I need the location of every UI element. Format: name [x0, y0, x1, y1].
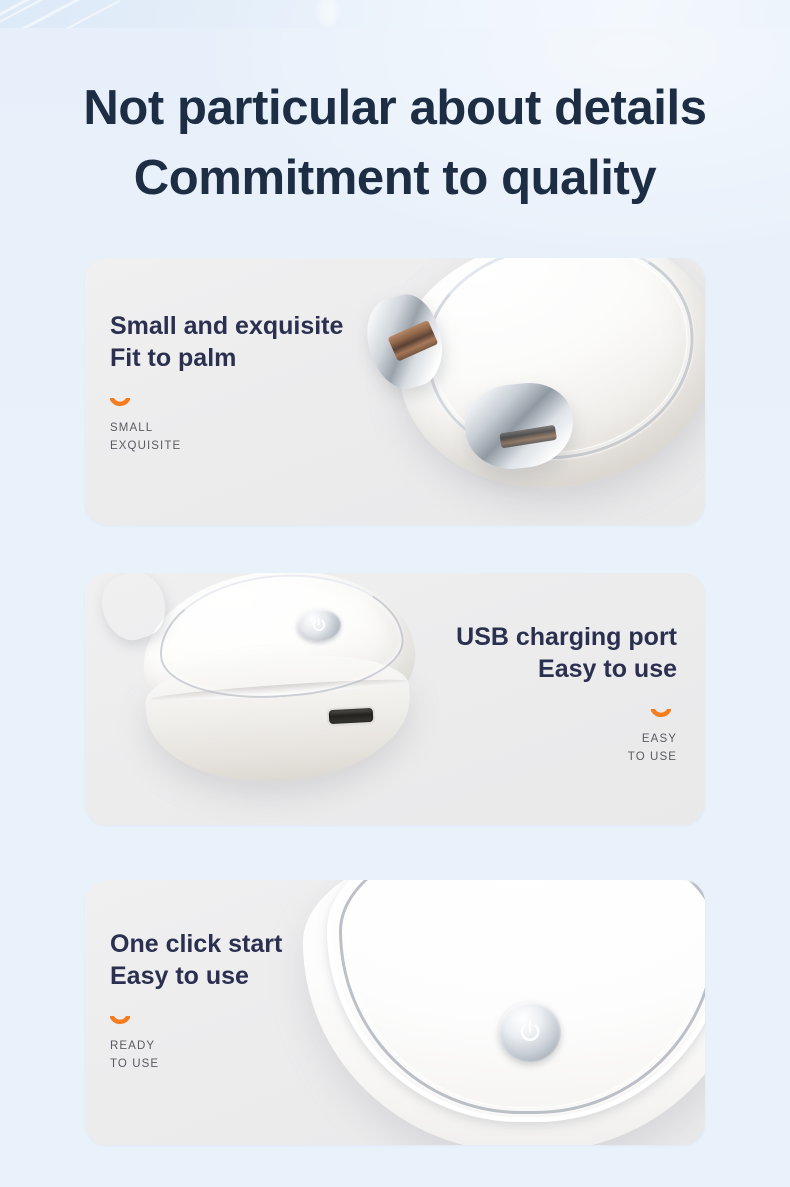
feature-card-small-exquisite: Small and exquisite Fit to palm SMALL EX… [85, 258, 705, 525]
product-photo-closeup-face [303, 880, 705, 1145]
card-text-block: Small and exquisite Fit to palm SMALL EX… [110, 310, 343, 456]
product-photo-angled-device [337, 258, 705, 525]
page-title: Not particular about details Commitment … [0, 84, 790, 203]
page-title-line-2: Commitment to quality [0, 154, 790, 203]
card-title-line-2: Fit to palm [110, 342, 343, 374]
card-subtext-line-1: READY [110, 1037, 282, 1055]
card-subtext-line-1: EASY [456, 730, 677, 748]
orange-arc-icon [110, 1016, 130, 1028]
power-button [499, 1002, 561, 1062]
power-symbol-icon [296, 608, 342, 643]
page-title-line-1: Not particular about details [0, 84, 790, 133]
diagonal-streak [10, 0, 117, 28]
card-subtext-line-2: TO USE [110, 1055, 282, 1073]
card-title-line-2: Easy to use [110, 960, 282, 992]
orange-arc-icon [651, 709, 671, 721]
usb-charging-port [329, 708, 374, 724]
card-title-line-2: Easy to use [456, 653, 677, 685]
top-decorative-strip [0, 0, 790, 28]
power-symbol-icon [499, 1002, 561, 1062]
card-subtext-line-2: TO USE [456, 748, 677, 766]
card-subtext: SMALL EXQUISITE [110, 419, 343, 456]
card-text-block: USB charging port Easy to use EASY TO US… [456, 621, 677, 767]
card-subtext-line-1: SMALL [110, 419, 343, 437]
card-subtext: READY TO USE [110, 1037, 282, 1074]
card-text-block: One click start Easy to use READY TO USE [110, 928, 282, 1074]
card-subtext-line-2: EXQUISITE [110, 437, 343, 455]
product-photo-side-view [97, 573, 427, 825]
card-title-line-1: One click start [110, 928, 282, 960]
card-subtext: EASY TO USE [456, 730, 677, 767]
feature-card-usb-charging: USB charging port Easy to use EASY TO US… [85, 573, 705, 825]
diagonal-streak [0, 0, 97, 21]
card-title-line-1: USB charging port [456, 621, 677, 653]
card-title-line-1: Small and exquisite [110, 310, 343, 342]
power-button [296, 608, 342, 643]
feature-card-one-click-start: One click start Easy to use READY TO USE [85, 880, 705, 1145]
copper-contact [499, 425, 557, 449]
orange-arc-icon [110, 398, 130, 410]
copper-contact [388, 320, 439, 362]
light-blob [318, 0, 338, 26]
